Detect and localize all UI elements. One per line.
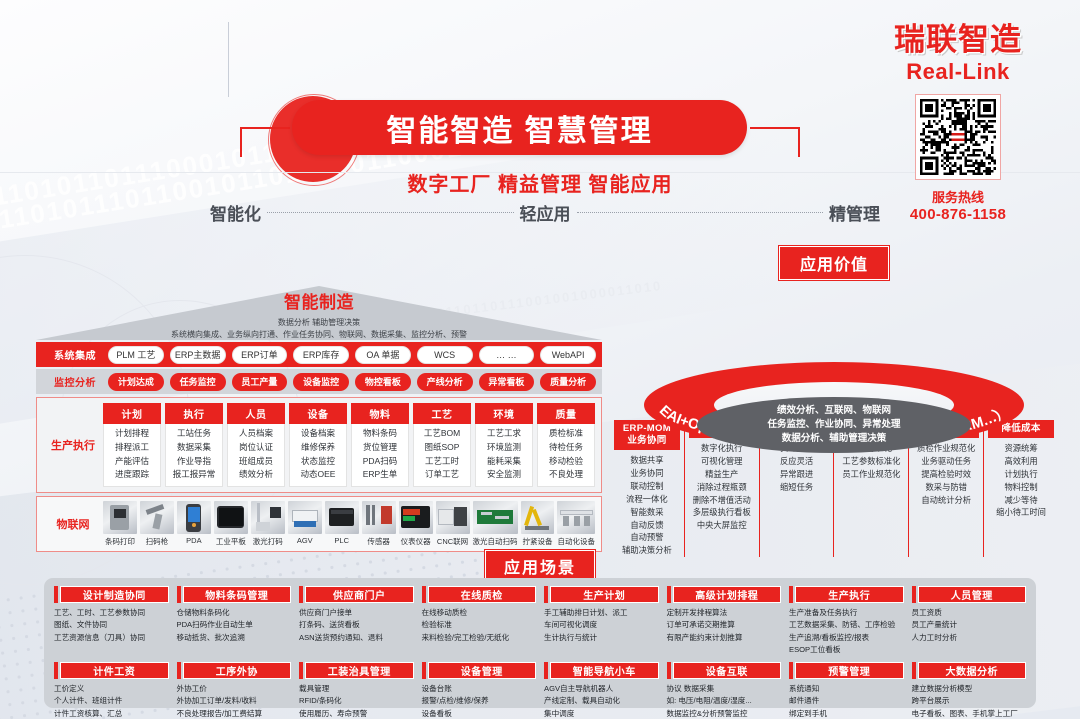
scene-card-line: 设备看板 [422, 708, 537, 719]
execution-item[interactable]: 绩效分析 [228, 468, 284, 482]
pda-icon [177, 501, 211, 534]
iot-item[interactable]: 工业平板 [214, 501, 248, 547]
scene-card-line: 生计执行与统计 [544, 632, 659, 644]
scene-card-line: 有限产能约束计划推算 [667, 632, 782, 644]
iot-item[interactable]: 扫码枪 [140, 501, 174, 547]
integration-pill-5[interactable]: WCS [417, 346, 473, 364]
execution-column: 计划计划排程排程派工产能评估进度跟踪 [103, 403, 161, 487]
scene-card-line: 个人计件、班组计件 [54, 695, 169, 707]
execution-item[interactable]: 计划排程 [104, 427, 160, 441]
barcode-scanner-icon [140, 501, 174, 534]
execution-item[interactable]: 物料条码 [352, 427, 408, 441]
funnel-core-line: 任务监控、作业协同、异常处理 [767, 418, 900, 432]
sensor-icon [362, 501, 396, 534]
scene-card-tick [54, 586, 58, 603]
scene-card-tick [422, 586, 426, 603]
scene-card-head: 高级计划排程 [667, 586, 782, 603]
scene-card-lines: 员工资质员工产量统计人力工时分析 [912, 607, 1027, 644]
funnel-core-lines: 绩效分析、互联网、物联网任务监控、作业协同、异常处理数据分析、辅助管理决策 [767, 404, 900, 447]
scene-card-lines: AGV自主导航机器人产线定制、载具自动化集中调度 [544, 683, 659, 719]
scene-card-head: 在线质检 [422, 586, 537, 603]
scene-card-line: 生产追溯/看板监控/报表 [789, 632, 904, 644]
monitoring-pill-2[interactable]: 员工产量 [232, 373, 288, 391]
iot-item[interactable]: 仪表仪器 [399, 501, 433, 547]
integration-pill-6[interactable]: … … [479, 346, 535, 364]
iot-caption: 条码打印 [105, 536, 135, 547]
execution-item[interactable]: 排程派工 [104, 441, 160, 455]
industrial-tablet-icon [214, 501, 248, 534]
iot-item[interactable]: 激光打码 [251, 501, 285, 547]
monitoring-pill-0[interactable]: 计划达成 [108, 373, 164, 391]
execution-item[interactable]: 不良处理 [538, 468, 594, 482]
axis-label-right: 精管理 [829, 200, 880, 225]
execution-column-body: 质检标准待检任务移动检验不良处理 [537, 424, 595, 487]
value-column: 降低成本资源统筹高效利用计划执行物料控制减少等待缩小待工时间 [983, 420, 1058, 557]
axis-dash-right [577, 212, 824, 213]
iot-items: 条码打印扫码枪PDA工业平板激光打码AGVPLC传感器仪表仪器CNC联网激光自动… [103, 501, 595, 547]
execution-item[interactable]: 质检标准 [538, 427, 594, 441]
value-item: 精益生产 [693, 468, 751, 481]
iot-item[interactable]: 自动化设备 [557, 501, 595, 547]
scene-card-title: 生产执行 [795, 586, 904, 603]
value-item: 联动控制 [622, 480, 672, 493]
scene-card-lines: 系统通知邮件通件绑定到手机 [789, 683, 904, 719]
monitoring-label: 监控分析 [42, 374, 108, 389]
execution-item[interactable]: 环境监测 [476, 441, 532, 455]
iot-item[interactable]: 激光自动扫码 [473, 501, 518, 547]
funnel-core: 绩效分析、互联网、物联网任务监控、作业协同、异常处理数据分析、辅助管理决策 [697, 397, 971, 453]
scene-card-line: 产线定制、载具自动化 [544, 695, 659, 707]
execution-item[interactable]: 进度跟踪 [104, 468, 160, 482]
application-value-title: 应用价值 [779, 246, 889, 280]
scene-card-line: AGV自主导航机器人 [544, 683, 659, 695]
scene-card-tick [422, 662, 426, 679]
integration-pill-0[interactable]: PLM 工艺 [108, 346, 164, 364]
value-item: 提高检验时效 [917, 468, 975, 481]
scene-card[interactable]: 工序外协外协工价外协加工订单/发料/收料不良处理报告/加工费结算 [177, 662, 292, 719]
instrument-icon [399, 501, 433, 534]
execution-item[interactable]: 维修保养 [290, 441, 346, 455]
axis-row: 智能化 轻应用 精管理 [210, 200, 880, 225]
value-item: 缩小待工时间 [996, 506, 1046, 519]
execution-table: 生产执行 计划计划排程排程派工产能评估进度跟踪执行工站任务数据采集作业导指报工报… [36, 397, 602, 493]
scene-card-title: 大数据分析 [918, 662, 1027, 679]
integration-pill-row: PLM 工艺ERP主数据ERP订单ERP库存OA 单据WCS… …WebAPI [108, 346, 596, 364]
monitoring-pill-7[interactable]: 质量分析 [540, 373, 596, 391]
iot-item[interactable]: CNC联网 [436, 501, 470, 547]
scene-card-head: 预警管理 [789, 662, 904, 679]
scene-card-line: 图纸、文件协同 [54, 619, 169, 631]
execution-column-head: 质量 [537, 403, 595, 424]
scene-card-lines: 工价定义个人计件、班组计件计件工资核算、汇总 [54, 683, 169, 719]
iot-caption: 拧紧设备 [523, 536, 553, 547]
scene-card-head: 工序外协 [177, 662, 292, 679]
scene-card-tick [177, 586, 181, 603]
execution-item[interactable]: 设备档案 [290, 427, 346, 441]
value-item: 可视化管理 [693, 455, 751, 468]
qr-code[interactable] [915, 94, 1001, 180]
value-item: 资源统筹 [996, 442, 1046, 455]
scene-card[interactable]: 生产执行生产准备及任务执行工艺数据采集、防错、工序检验生产追溯/看板监控/报表E… [789, 586, 904, 656]
scene-card[interactable]: 高级计划排程定制开发排程算法订单可承诺交期推算有限产能约束计划推算 [667, 586, 782, 656]
smart-manufacturing-subtitle-line2: 系统横向集成、业务纵向打通、作业任务协同、物联网、数据采集、监控分析、预警 [36, 329, 602, 341]
execution-column-body: 工艺工求环境监测能耗采集安全监测 [475, 424, 533, 487]
scene-card-line: 仓储物料条码化 [177, 607, 292, 619]
value-column-body: 数据共享业务协同联动控制流程一体化智能数采自动反馈自动预警辅助决策分析 [622, 454, 672, 557]
execution-item[interactable]: 能耗采集 [476, 455, 532, 469]
smart-manufacturing-subtitle: 数据分析 辅助管理决策 系统横向集成、业务纵向打通、作业任务协同、物联网、数据采… [36, 317, 602, 340]
scene-card-line: 载具管理 [299, 683, 414, 695]
execution-column-head: 物料 [351, 403, 409, 424]
scene-card-lines: 建立数据分析模型跨平台展示电子看板、图表、手机掌上工厂 [912, 683, 1027, 719]
value-column: ERP-MOM业务协同数据共享业务协同联动控制流程一体化智能数采自动反馈自动预警… [610, 420, 684, 557]
scene-card-line: 供应商门户接单 [299, 607, 414, 619]
execution-item[interactable]: 作业导指 [166, 455, 222, 469]
main-subtitle: 数字工厂 精益管理 智能应用 [0, 168, 1080, 197]
monitoring-pill-6[interactable]: 异常看板 [479, 373, 535, 391]
execution-item[interactable]: 报工报异常 [166, 468, 222, 482]
integration-band: 系统集成 PLM 工艺ERP主数据ERP订单ERP库存OA 单据WCS… …We… [36, 342, 602, 367]
execution-item[interactable]: 工艺工时 [414, 455, 470, 469]
scenes-row-1: 设计制造协同工艺、工时、工艺参数协同图纸、文件协同工艺资源信息（刀具）协同物料条… [54, 586, 1026, 656]
execution-item[interactable]: 状态监控 [290, 455, 346, 469]
scene-card-line: ASN送货预约通知、退料 [299, 632, 414, 644]
scene-card-head: 人员管理 [912, 586, 1027, 603]
value-item: 删除不增值活动 [693, 494, 751, 507]
value-item: 辅助决策分析 [622, 544, 672, 557]
integration-pill-7[interactable]: WebAPI [540, 346, 596, 364]
value-item: 多层级执行看板 [693, 506, 751, 519]
banner-hook-right [798, 127, 800, 157]
execution-item[interactable]: 工艺BOM [414, 427, 470, 441]
scene-card-lines: 供应商门户接单打条码、送货看板ASN送货预约通知、退料 [299, 607, 414, 644]
scene-card-title: 供应商门户 [305, 586, 414, 603]
background-vline [228, 22, 229, 97]
scene-card-line: 工艺数据采集、防错、工序检验 [789, 619, 904, 631]
value-item: 自动预警 [622, 531, 672, 544]
iot-label: 物联网 [43, 516, 103, 532]
execution-column-head: 计划 [103, 403, 161, 424]
scene-card-head: 生产计划 [544, 586, 659, 603]
brand-name-en: Real-Link [854, 59, 1062, 85]
axis-label-mid: 轻应用 [520, 200, 571, 225]
value-column-body: 质检作业规范化业务驱动任务提高检验时效数采与防错自动统计分析 [917, 442, 975, 506]
scene-card-line: 订单可承诺交期推算 [667, 619, 782, 631]
scene-card-tick [544, 586, 548, 603]
scene-card-title: 设备管理 [428, 662, 537, 679]
execution-item[interactable]: 安全监测 [476, 468, 532, 482]
scene-card-line: PDA扫码作业自动生单 [177, 619, 292, 631]
scene-card-head: 设计制造协同 [54, 586, 169, 603]
axis-dash-left [267, 212, 514, 213]
scene-card[interactable]: 计件工资工价定义个人计件、班组计件计件工资核算、汇总 [54, 662, 169, 719]
scene-card-lines: 在线移动质检检验标准来料检验/完工检验/无纸化 [422, 607, 537, 644]
scene-card-tick [912, 586, 916, 603]
scene-card-tick [544, 662, 548, 679]
iot-item[interactable]: PDA [177, 501, 211, 547]
execution-column: 质量质检标准待检任务移动检验不良处理 [537, 403, 595, 487]
execution-item[interactable]: 图纸SOP [414, 441, 470, 455]
execution-column-body: 工艺BOM图纸SOP工艺工时订单工艺 [413, 424, 471, 487]
iot-caption: PDA [186, 536, 201, 545]
scene-card-title: 人员管理 [918, 586, 1027, 603]
iot-item[interactable]: 拧紧设备 [521, 501, 555, 547]
iot-caption: CNC联网 [437, 536, 468, 547]
value-item: 减少等待 [996, 494, 1046, 507]
scene-card-lines: 仓储物料条码化PDA扫码作业自动生单移动抵货、批次追溯 [177, 607, 292, 644]
application-value-panel: 应用价值 EAI+OpenAPI（集成ERP/PDM/OMS/SCADA/SRM… [608, 246, 1060, 557]
scene-card-head: 工装治具管理 [299, 662, 414, 679]
execution-column-head: 人员 [227, 403, 285, 424]
scene-card[interactable]: 生产计划手工辅助排日计划、派工车间可视化调度生计执行与统计 [544, 586, 659, 656]
execution-columns: 计划计划排程排程派工产能评估进度跟踪执行工站任务数据采集作业导指报工报异常人员人… [103, 403, 595, 487]
scene-card-lines: 外协工价外协加工订单/发料/收料不良处理报告/加工费结算 [177, 683, 292, 719]
scene-card-lines: 协议 数据采集如: 电压/电阻/温度/湿度...数据监控&分析预警监控 [667, 683, 782, 719]
scene-card-line: 系统通知 [789, 683, 904, 695]
scene-card-head: 计件工资 [54, 662, 169, 679]
execution-item[interactable]: 岗位认证 [228, 441, 284, 455]
execution-item[interactable]: 人员档案 [228, 427, 284, 441]
scene-card-line: 不良处理报告/加工费结算 [177, 708, 292, 719]
iot-caption: PLC [334, 536, 349, 545]
scene-card-line: 员工资质 [912, 607, 1027, 619]
scene-card-tick [299, 662, 303, 679]
execution-column-head: 工艺 [413, 403, 471, 424]
iot-caption: 传感器 [367, 536, 390, 547]
scene-card-lines: 定制开发排程算法订单可承诺交期推算有限产能约束计划推算 [667, 607, 782, 644]
value-item: 员工作业规范化 [842, 468, 900, 481]
value-item: 业务驱动任务 [917, 455, 975, 468]
value-column-body: 资源统筹高效利用计划执行物料控制减少等待缩小待工时间 [996, 442, 1046, 519]
funnel-diagram: EAI+OpenAPI（集成ERP/PDM/OMS/SCADA/SRM…） 绩效… [608, 284, 1060, 412]
scene-card[interactable]: 预警管理系统通知邮件通件绑定到手机 [789, 662, 904, 719]
scene-card-tick [789, 662, 793, 679]
scene-card-title: 设备互联 [673, 662, 782, 679]
axis-label-left: 智能化 [210, 200, 261, 225]
cnc-machine-icon [436, 501, 470, 534]
value-item: 自动统计分析 [917, 494, 975, 507]
funnel-core-line: 绩效分析、互联网、物联网 [767, 404, 900, 418]
scene-card-title: 高级计划排程 [673, 586, 782, 603]
scene-card-line: 设备台账 [422, 683, 537, 695]
scene-card-line: 员工产量统计 [912, 619, 1027, 631]
main-banner-title: 智能智造 智慧管理 [386, 106, 652, 150]
scene-card-tick [912, 662, 916, 679]
label-printer-icon [103, 501, 137, 534]
execution-column-body: 计划排程排程派工产能评估进度跟踪 [103, 424, 161, 487]
execution-item[interactable]: PDA扫码 [352, 455, 408, 469]
scene-card-lines: 工艺、工时、工艺参数协同图纸、文件协同工艺资源信息（刀具）协同 [54, 607, 169, 644]
execution-column: 设备设备档案维修保养状态监控动态OEE [289, 403, 347, 487]
execution-column-body: 物料条码货位管理PDA扫码ERP生单 [351, 424, 409, 487]
execution-column-head: 环境 [475, 403, 533, 424]
scene-card-line: 在线移动质检 [422, 607, 537, 619]
value-item: 智能数采 [622, 506, 672, 519]
scene-card-lines: 手工辅助排日计划、派工车间可视化调度生计执行与统计 [544, 607, 659, 644]
scene-card-line: 车间可视化调度 [544, 619, 659, 631]
iot-item[interactable]: AGV [288, 501, 322, 547]
value-item: 缩短任务 [780, 481, 813, 494]
execution-item[interactable]: 班组成员 [228, 455, 284, 469]
scene-card-line: 手工辅助排日计划、派工 [544, 607, 659, 619]
integration-pill-1[interactable]: ERP主数据 [170, 346, 226, 364]
value-item: 流程一体化 [622, 493, 672, 506]
scene-card[interactable]: 智能导航小车AGV自主导航机器人产线定制、载具自动化集中调度 [544, 662, 659, 719]
agv-icon [288, 501, 322, 534]
monitoring-pill-1[interactable]: 任务监控 [170, 373, 226, 391]
execution-column: 人员人员档案岗位认证班组成员绩效分析 [227, 403, 285, 487]
scene-card-tick [667, 662, 671, 679]
execution-item[interactable]: 数据采集 [166, 441, 222, 455]
execution-item[interactable]: 货位管理 [352, 441, 408, 455]
execution-column-body: 设备档案维修保养状态监控动态OEE [289, 424, 347, 487]
scene-card-line: 集中调度 [544, 708, 659, 719]
scene-card-title: 智能导航小车 [550, 662, 659, 679]
scene-card-title: 物料条码管理 [183, 586, 292, 603]
automation-line-icon [557, 501, 595, 534]
scene-card[interactable]: 供应商门户供应商门户接单打条码、送货看板ASN送货预约通知、退料 [299, 586, 414, 656]
scene-card-title: 工装治具管理 [305, 662, 414, 679]
scene-card-title: 设计制造协同 [60, 586, 169, 603]
scene-card-tick [667, 586, 671, 603]
scene-card-line: 移动抵货、批次追溯 [177, 632, 292, 644]
value-item: 中央大屏监控 [693, 519, 751, 532]
value-item: 业务协同 [622, 467, 672, 480]
execution-item[interactable]: ERP生单 [352, 468, 408, 482]
execution-item[interactable]: 工站任务 [166, 427, 222, 441]
value-item: 自动反馈 [622, 519, 672, 532]
iot-caption: 激光打码 [253, 536, 283, 547]
scene-card-line: 使用履历、寿命预警 [299, 708, 414, 719]
scene-card-title: 计件工资 [60, 662, 169, 679]
torque-robot-icon [521, 501, 555, 534]
execution-column: 物料物料条码货位管理PDA扫码ERP生单 [351, 403, 409, 487]
hotline-number: 400-876-1158 [854, 206, 1062, 223]
scene-card-head: 设备管理 [422, 662, 537, 679]
scene-card-head: 大数据分析 [912, 662, 1027, 679]
integration-pill-4[interactable]: OA 单据 [355, 346, 411, 364]
value-column-body: 数字化执行可视化管理精益生产消除过程瓶颈删除不增值活动多层级执行看板中央大屏监控 [693, 442, 751, 532]
execution-column-body: 人员档案岗位认证班组成员绩效分析 [227, 424, 285, 487]
scene-card-line: RFID/条码化 [299, 695, 414, 707]
iot-caption: 自动化设备 [557, 536, 595, 547]
execution-item[interactable]: 移动检验 [538, 455, 594, 469]
execution-item[interactable]: 工艺工求 [476, 427, 532, 441]
banner-rule-left [240, 127, 290, 129]
scene-card-line: 报警/点检/维修/保养 [422, 695, 537, 707]
execution-item[interactable]: 动态OEE [290, 468, 346, 482]
scene-card[interactable]: 工装治具管理载具管理RFID/条码化使用履历、寿命预警 [299, 662, 414, 719]
value-item: 消除过程瓶颈 [693, 481, 751, 494]
iot-caption: 工业平板 [216, 536, 246, 547]
scene-card-line: 绑定到手机 [789, 708, 904, 719]
iot-caption: 仪表仪器 [401, 536, 431, 547]
smart-manufacturing-subtitle-line1: 数据分析 辅助管理决策 [36, 317, 602, 329]
scene-card-line: 电子看板、图表、手机掌上工厂 [912, 708, 1027, 719]
scenes-row-2: 计件工资工价定义个人计件、班组计件计件工资核算、汇总工序外协外协工价外协加工订单… [54, 662, 1026, 719]
plc-icon [325, 501, 359, 534]
scene-card-line: 工艺、工时、工艺参数协同 [54, 607, 169, 619]
execution-column-head: 执行 [165, 403, 223, 424]
qr-code-canvas [920, 99, 996, 175]
scene-card-line: 生产准备及任务执行 [789, 607, 904, 619]
integration-pill-3[interactable]: ERP库存 [293, 346, 349, 364]
integration-pill-2[interactable]: ERP订单 [232, 346, 288, 364]
monitoring-band: 监控分析 计划达成任务监控员工产量设备监控物控看板产线分析异常看板质量分析 [36, 369, 602, 394]
scene-card-tick [177, 662, 181, 679]
iot-item[interactable]: 传感器 [362, 501, 396, 547]
scene-card-line: 打条码、送货看板 [299, 619, 414, 631]
monitoring-pill-3[interactable]: 设备监控 [293, 373, 349, 391]
scene-card-line: 人力工时分析 [912, 632, 1027, 644]
scene-card[interactable]: 物料条码管理仓储物料条码化PDA扫码作业自动生单移动抵货、批次追溯 [177, 586, 292, 656]
scene-card-line: 工价定义 [54, 683, 169, 695]
iot-caption: 激光自动扫码 [473, 536, 518, 547]
execution-label: 生产执行 [43, 403, 103, 487]
execution-item[interactable]: 订单工艺 [414, 468, 470, 482]
value-item: 计划执行 [996, 468, 1046, 481]
value-item: 数据共享 [622, 454, 672, 467]
scene-card-title: 生产计划 [550, 586, 659, 603]
scene-card-tick [789, 586, 793, 603]
monitoring-pill-5[interactable]: 产线分析 [417, 373, 473, 391]
scene-card[interactable]: 大数据分析建立数据分析模型跨平台展示电子看板、图表、手机掌上工厂 [912, 662, 1027, 719]
value-item: 异常跟进 [780, 468, 813, 481]
scene-card-line: 邮件通件 [789, 695, 904, 707]
value-item: 工艺参数标准化 [842, 455, 900, 468]
scene-card-title: 工序外协 [183, 662, 292, 679]
scene-card-line: 数据监控&分析预警监控 [667, 708, 782, 719]
scene-card-line: 如: 电压/电阻/温度/湿度... [667, 695, 782, 707]
scene-card-title: 预警管理 [795, 662, 904, 679]
scenes-panel: 设计制造协同工艺、工时、工艺参数协同图纸、文件协同工艺资源信息（刀具）协同物料条… [44, 578, 1036, 708]
scene-card-line: 外协工价 [177, 683, 292, 695]
banner-hook-left [240, 127, 242, 157]
scene-card[interactable]: 设备互联协议 数据采集如: 电压/电阻/温度/湿度...数据监控&分析预警监控 [667, 662, 782, 719]
monitoring-pill-4[interactable]: 物控看板 [355, 373, 411, 391]
execution-item[interactable]: 待检任务 [538, 441, 594, 455]
value-item: 高效利用 [996, 455, 1046, 468]
scene-card[interactable]: 在线质检在线移动质检检验标准来料检验/完工检验/无纸化 [422, 586, 537, 656]
scene-card[interactable]: 设计制造协同工艺、工时、工艺参数协同图纸、文件协同工艺资源信息（刀具）协同 [54, 586, 169, 656]
value-item: 数采与防错 [917, 481, 975, 494]
infographic-root: 110101101110001011001001000011011 011010… [0, 0, 1080, 719]
brand-name-cn: 瑞联智造 [854, 24, 1062, 57]
iot-item[interactable]: PLC [325, 501, 359, 547]
execution-item[interactable]: 产能评估 [104, 455, 160, 469]
scene-card-line: 来料检验/完工检验/无纸化 [422, 632, 537, 644]
smart-manufacturing-title: 智能制造 [36, 288, 602, 313]
integration-label: 系统集成 [42, 347, 108, 362]
iot-item[interactable]: 条码打印 [103, 501, 137, 547]
laser-marker-icon [251, 501, 285, 534]
smart-manufacturing-header: 智能制造 数据分析 辅助管理决策 系统横向集成、业务纵向打通、作业任务协同、物联… [36, 286, 602, 340]
scene-card-line: 建立数据分析模型 [912, 683, 1027, 695]
smart-manufacturing-panel: 智能制造 数据分析 辅助管理决策 系统横向集成、业务纵向打通、作业任务协同、物联… [36, 286, 602, 552]
scene-card-line: 协议 数据采集 [667, 683, 782, 695]
scene-card-head: 物料条码管理 [177, 586, 292, 603]
execution-column: 执行工站任务数据采集作业导指报工报异常 [165, 403, 223, 487]
main-banner: 智能智造 智慧管理 [292, 100, 747, 155]
funnel-core-line: 数据分析、辅助管理决策 [767, 432, 900, 446]
iot-row: 物联网 条码打印扫码枪PDA工业平板激光打码AGVPLC传感器仪表仪器CNC联网… [36, 496, 602, 552]
scene-card[interactable]: 人员管理员工资质员工产量统计人力工时分析 [912, 586, 1027, 656]
scene-card[interactable]: 设备管理设备台账报警/点检/维修/保养设备看板 [422, 662, 537, 719]
scene-card-line: 计件工资核算、汇总 [54, 708, 169, 719]
scene-card-head: 智能导航小车 [544, 662, 659, 679]
scene-card-lines: 生产准备及任务执行工艺数据采集、防错、工序检验生产追溯/看板监控/报表ESOP工… [789, 607, 904, 656]
scene-card-title: 在线质检 [428, 586, 537, 603]
